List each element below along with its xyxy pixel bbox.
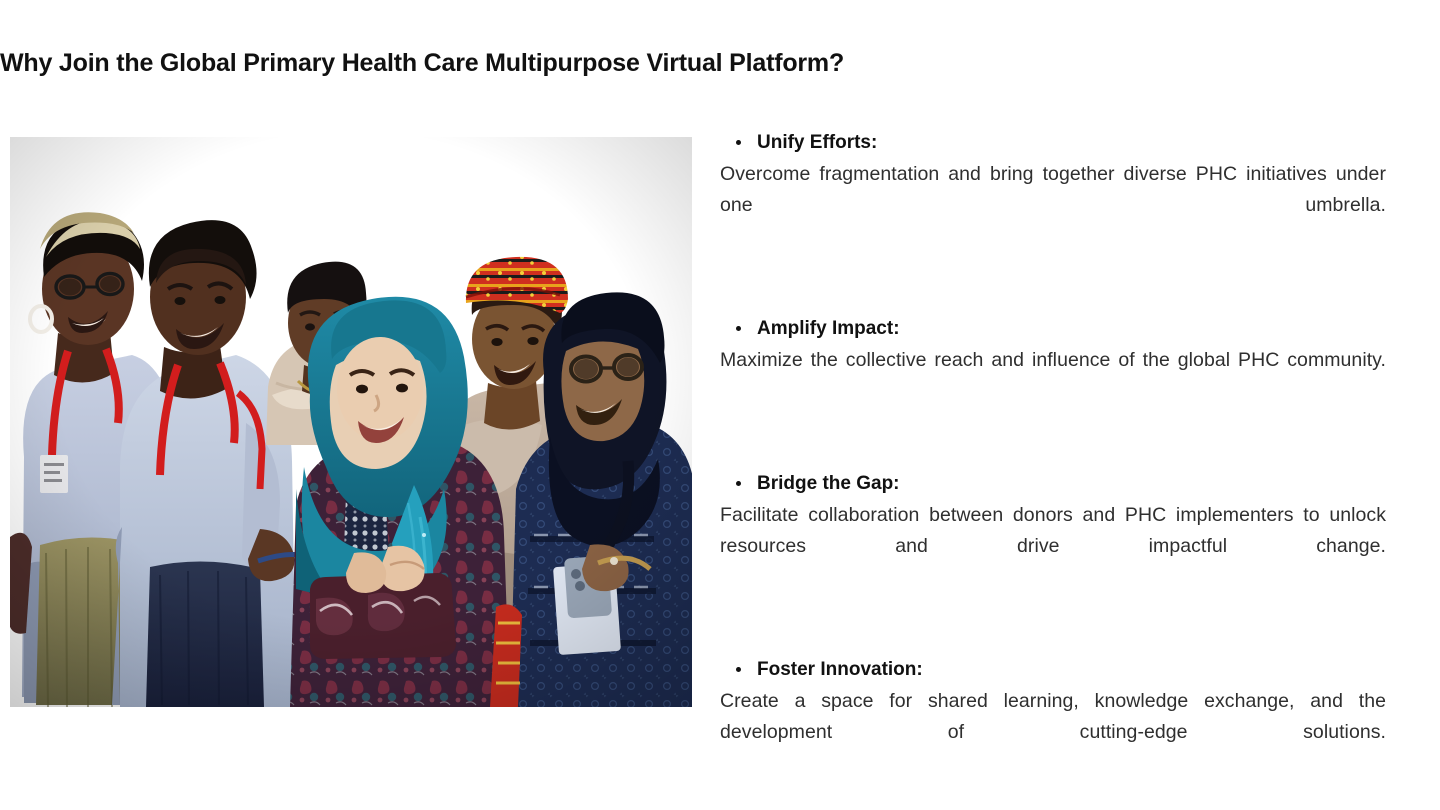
bullet-heading-text: Bridge the Gap: xyxy=(757,473,900,494)
bullet-dot-icon xyxy=(736,326,741,331)
bullet-heading: Unify Efforts: xyxy=(720,128,1386,157)
list-item: Bridge the Gap: Facilitate collaboration… xyxy=(720,469,1386,593)
list-item: Foster Innovation: Create a space for sh… xyxy=(720,655,1386,779)
bullet-heading-text: Amplify Impact: xyxy=(757,318,900,339)
bullet-dot-icon xyxy=(736,667,741,672)
page-title: Why Join the Global Primary Health Care … xyxy=(0,48,1100,78)
bullet-heading: Amplify Impact: xyxy=(720,314,1386,343)
benefits-list: Unify Efforts: Overcome fragmentation an… xyxy=(720,128,1386,779)
bullet-heading-text: Foster Innovation: xyxy=(757,659,923,680)
group-photo xyxy=(10,137,692,707)
group-photo-illustration xyxy=(10,137,692,707)
bullet-body-text: Maximize the collective reach and influe… xyxy=(720,345,1386,407)
bullet-dot-icon xyxy=(736,481,741,486)
list-item: Unify Efforts: Overcome fragmentation an… xyxy=(720,128,1386,252)
bullet-dot-icon xyxy=(736,140,741,145)
bullet-body-text: Facilitate collaboration between donors … xyxy=(720,500,1386,592)
bullet-heading: Foster Innovation: xyxy=(720,655,1386,684)
bullet-body-text: Overcome fragmentation and bring togethe… xyxy=(720,159,1386,251)
slide-canvas: Why Join the Global Primary Health Care … xyxy=(0,0,1440,810)
bullet-heading: Bridge the Gap: xyxy=(720,469,1386,498)
list-item: Amplify Impact: Maximize the collective … xyxy=(720,314,1386,407)
bullet-heading-text: Unify Efforts: xyxy=(757,132,877,153)
bullet-body-text: Create a space for shared learning, know… xyxy=(720,686,1386,778)
